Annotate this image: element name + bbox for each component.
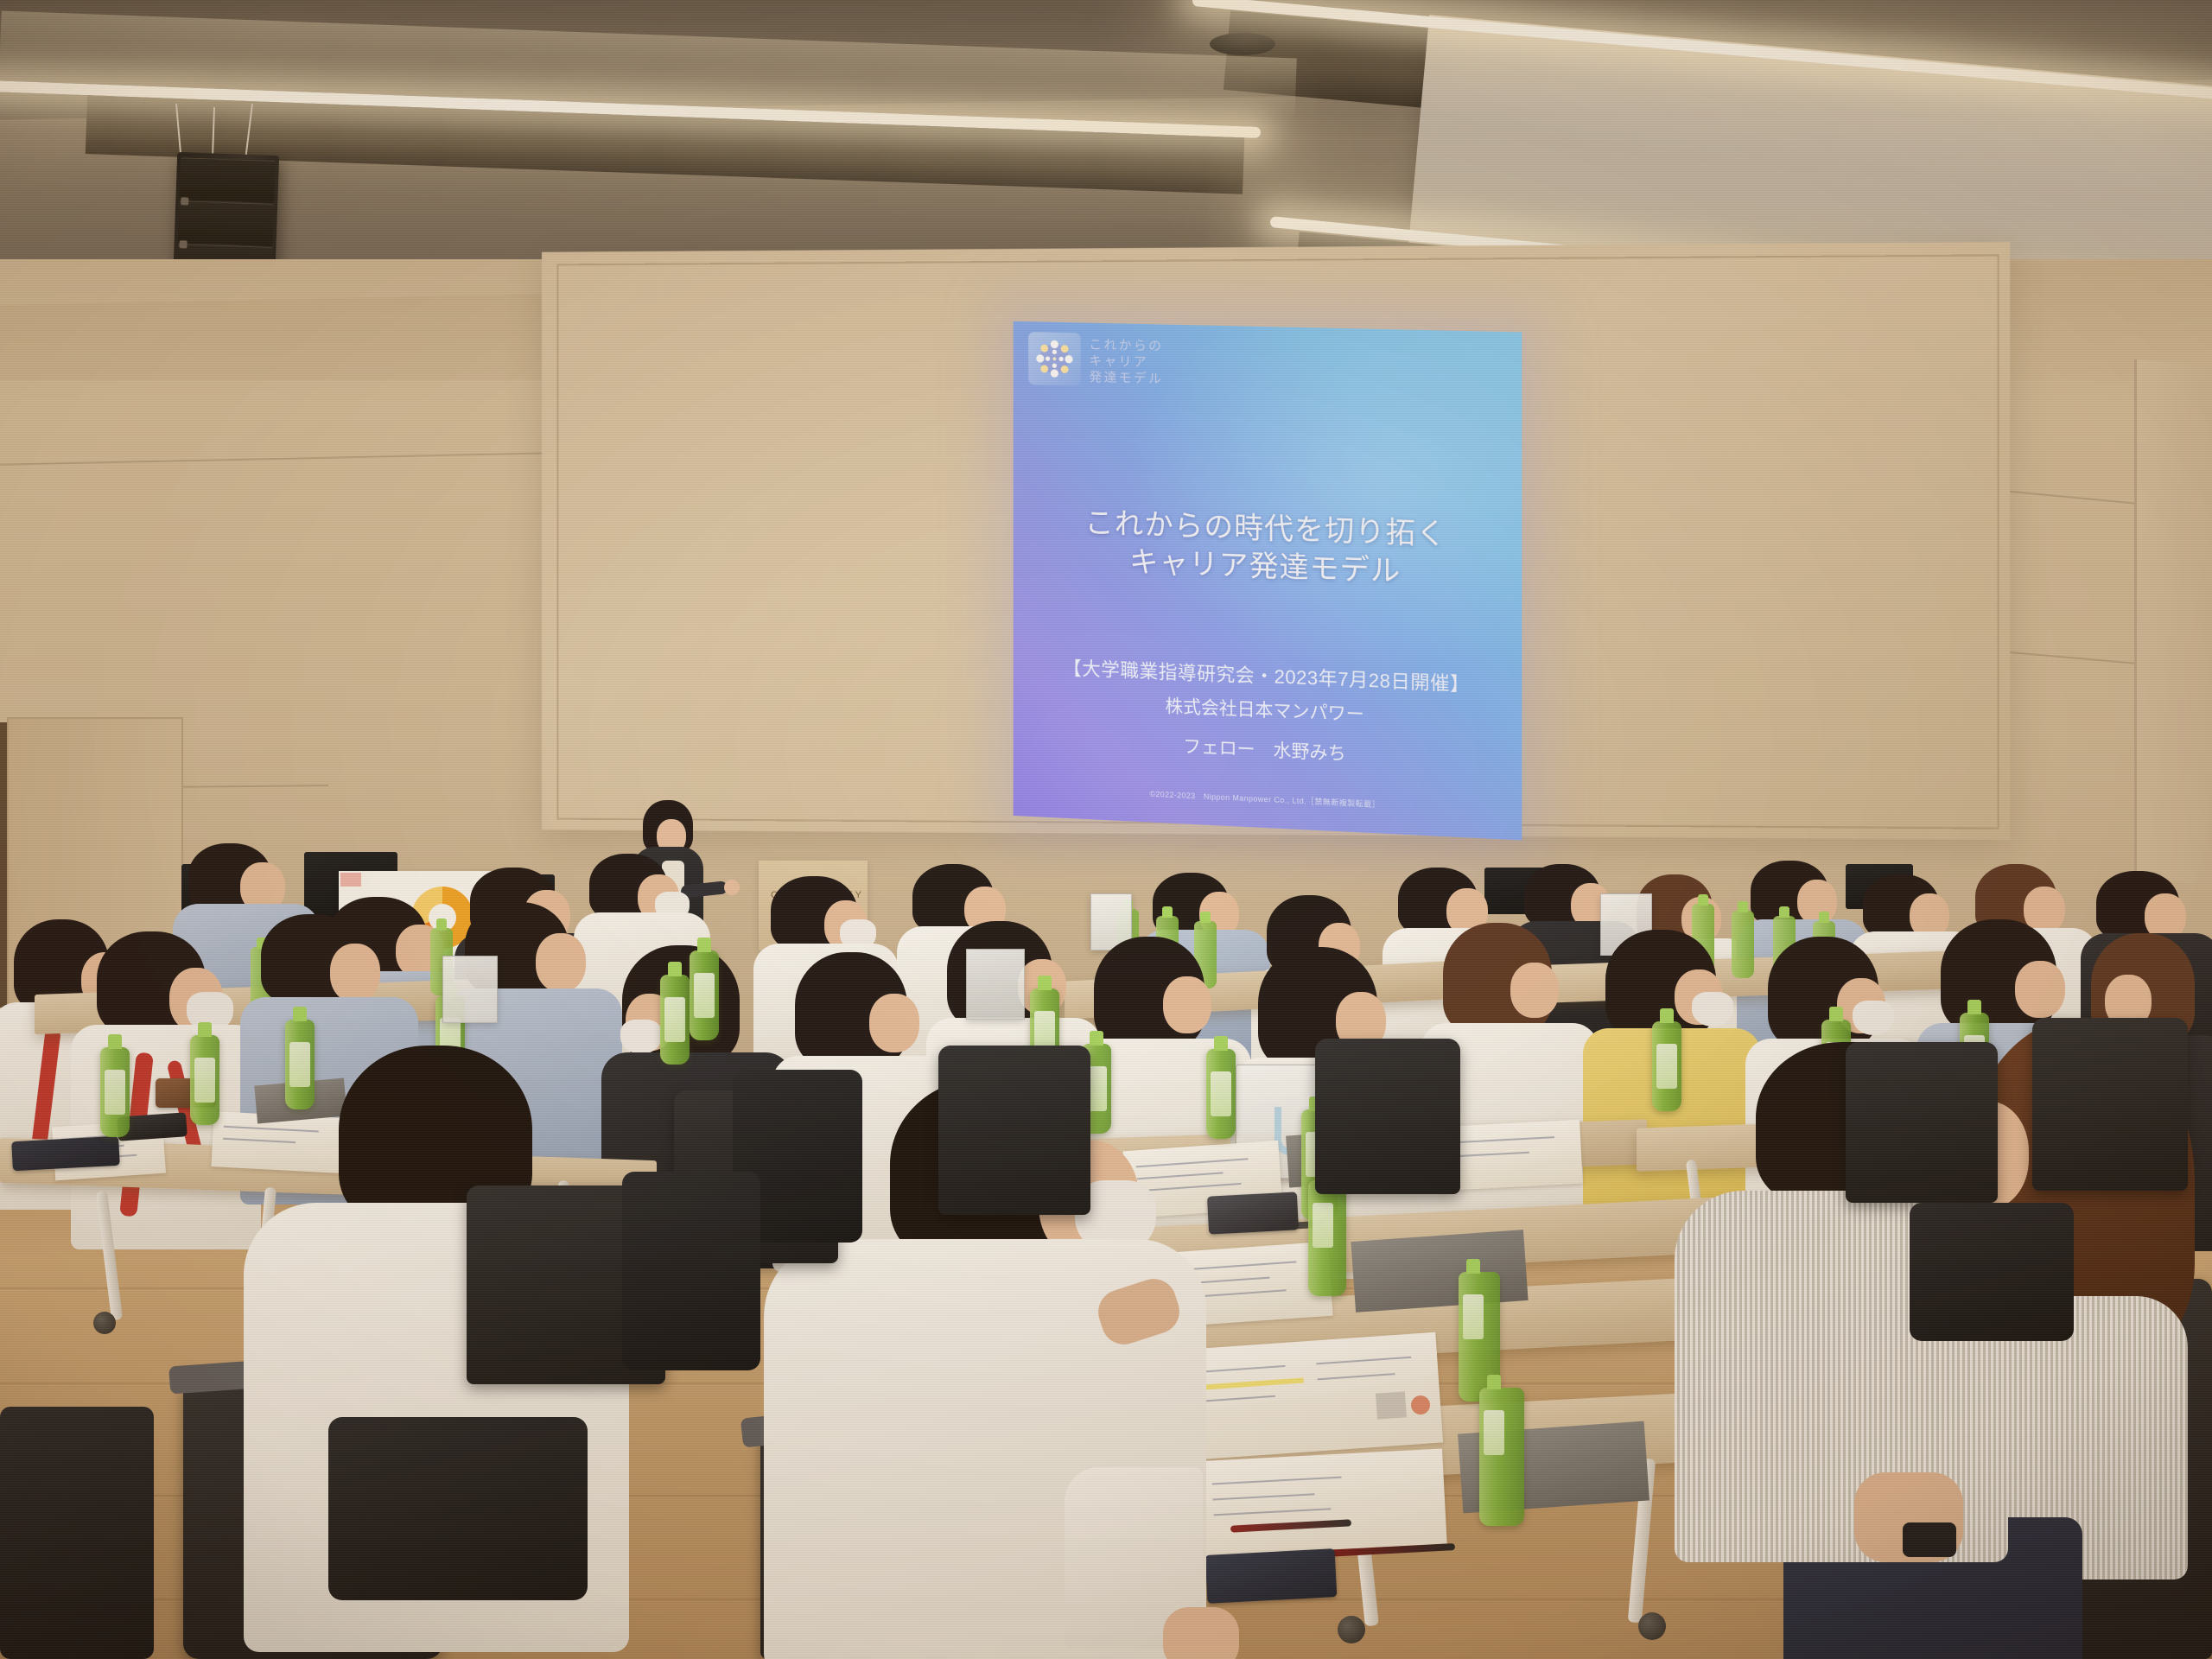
chair[interactable] <box>2032 1018 2188 1191</box>
pen-case <box>1205 1548 1338 1604</box>
handout-dark <box>1351 1230 1528 1313</box>
mandala-logo-icon <box>1033 337 1076 381</box>
tea-bottle <box>1479 1388 1524 1526</box>
table-sign <box>966 949 1025 1020</box>
backpack <box>328 1417 588 1600</box>
tea-bottle <box>690 950 719 1040</box>
chair[interactable] <box>938 1046 1090 1215</box>
slide-surface: これからの キャリア 発達モデル これからの時代を切り拓く キャリア発達モデル … <box>1014 321 1522 841</box>
smartwatch <box>1903 1522 1956 1557</box>
seminar-room-photo: これからの キャリア 発達モデル これからの時代を切り拓く キャリア発達モデル … <box>0 0 2212 1659</box>
tea-bottle <box>1652 1021 1681 1111</box>
forearm <box>1163 1607 1239 1659</box>
tea-bottle <box>660 975 690 1065</box>
tea-bottle <box>1206 1049 1236 1139</box>
right-wall-panel <box>2134 359 2212 885</box>
tea-bottle <box>100 1047 130 1137</box>
projection-screen[interactable]: これからの キャリア 発達モデル これからの時代を切り拓く キャリア発達モデル … <box>1014 321 1522 841</box>
caster-wheel <box>93 1312 116 1334</box>
caster-wheel <box>1338 1616 1365 1643</box>
caster-wheel <box>1638 1612 1666 1640</box>
handout <box>1192 1448 1446 1556</box>
bag <box>1910 1203 2074 1341</box>
tea-bottle <box>1308 1180 1346 1296</box>
backpack <box>0 1407 154 1659</box>
handout-large <box>1177 1332 1443 1461</box>
table-sign <box>442 956 498 1023</box>
logo-text: これからの キャリア 発達モデル <box>1089 336 1234 389</box>
recessed-ceiling-light <box>1210 33 1275 55</box>
backpack <box>622 1172 760 1370</box>
pen-case <box>11 1136 120 1171</box>
wallet <box>1207 1192 1299 1234</box>
tea-bottle <box>190 1035 219 1125</box>
chair[interactable] <box>1846 1042 1998 1203</box>
chair[interactable] <box>1315 1039 1460 1194</box>
